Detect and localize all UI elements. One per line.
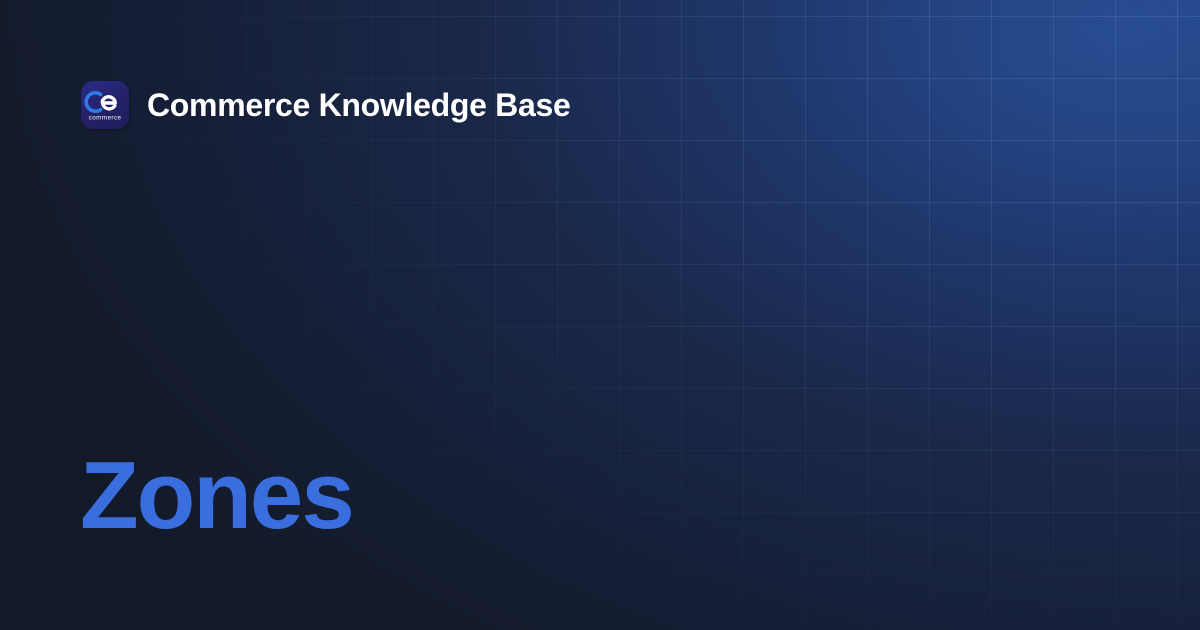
brand-title: Commerce Knowledge Base — [147, 89, 570, 121]
page-title: Zones — [80, 448, 353, 544]
og-card: commerce Commerce Knowledge Base Zones — [0, 0, 1200, 630]
brand-header: commerce Commerce Knowledge Base — [81, 81, 570, 129]
svg-text:commerce: commerce — [89, 115, 122, 122]
ce-commerce-logo-icon: commerce — [81, 81, 129, 129]
